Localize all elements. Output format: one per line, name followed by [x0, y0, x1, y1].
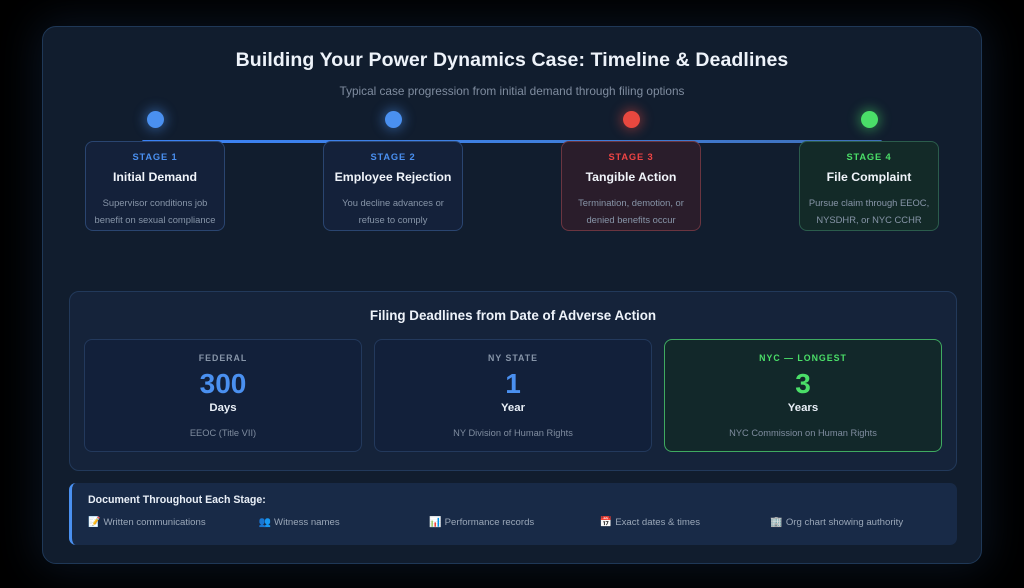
bar-chart-icon: 📊: [429, 517, 441, 528]
deadline-unit: Years: [665, 402, 941, 414]
deadlines-section: Filing Deadlines from Date of Adverse Ac…: [69, 291, 957, 471]
header: Building Your Power Dynamics Case: Timel…: [43, 27, 981, 98]
doc-item-label: Exact dates & times: [615, 517, 700, 528]
stage-dot-icon: [623, 111, 640, 128]
stage-number: STAGE 3: [570, 152, 692, 162]
stage-number: STAGE 4: [808, 152, 930, 162]
stage-card[interactable]: STAGE 3 Tangible Action Termination, dem…: [561, 141, 701, 231]
stage-name: Initial Demand: [94, 170, 216, 184]
deadline-source: NYC Commission on Human Rights: [665, 428, 941, 438]
deadline-number: 300: [85, 367, 361, 401]
doc-item-org-chart: 🏢Org chart showing authority: [770, 517, 941, 528]
doc-item-performance-records: 📊Performance records: [429, 517, 600, 528]
documentation-title: Document Throughout Each Stage:: [88, 494, 941, 506]
page-subtitle: Typical case progression from initial de…: [43, 84, 981, 98]
deadline-unit: Days: [85, 402, 361, 414]
deadline-source: NY Division of Human Rights: [375, 428, 651, 438]
doc-item-written-communications: 📝Written communications: [88, 517, 259, 528]
stage-desc-line: Pursue claim through EEOC,: [808, 194, 930, 211]
stage-card[interactable]: STAGE 4 File Complaint Pursue claim thro…: [799, 141, 939, 231]
stage-dot-icon: [147, 111, 164, 128]
deadline-card-ny-state[interactable]: NY STATE 1 Year NY Division of Human Rig…: [374, 339, 652, 452]
stage-desc-line: benefit on sexual compliance: [94, 211, 216, 228]
deadline-label: NY STATE: [375, 353, 651, 363]
deadlines-title: Filing Deadlines from Date of Adverse Ac…: [70, 308, 956, 323]
stage-name: Tangible Action: [570, 170, 692, 184]
doc-item-label: Witness names: [274, 517, 340, 528]
timeline-stage-4[interactable]: STAGE 4 File Complaint Pursue claim thro…: [799, 111, 939, 231]
timeline-section: STAGE 1 Initial Demand Supervisor condit…: [43, 111, 981, 257]
stage-desc-line: NYSDHR, or NYC CCHR: [808, 211, 930, 228]
stage-description: Pursue claim through EEOC, NYSDHR, or NY…: [808, 194, 930, 229]
deadline-unit: Year: [375, 402, 651, 414]
documentation-items: 📝Written communications 👥Witness names 📊…: [88, 517, 941, 528]
deadline-label: NYC — LONGEST: [665, 353, 941, 363]
deadline-number: 3: [665, 367, 941, 401]
stage-desc-line: Supervisor conditions job: [94, 194, 216, 211]
doc-item-exact-dates: 📅Exact dates & times: [600, 517, 771, 528]
deadline-number: 1: [375, 367, 651, 401]
doc-item-label: Org chart showing authority: [786, 517, 903, 528]
doc-item-witness-names: 👥Witness names: [259, 517, 430, 528]
calendar-icon: 📅: [600, 517, 612, 528]
deadline-label: FEDERAL: [85, 353, 361, 363]
stage-name: Employee Rejection: [332, 170, 454, 184]
stage-description: You decline advances or refuse to comply: [332, 194, 454, 229]
deadline-source: EEOC (Title VII): [85, 428, 361, 438]
stage-number: STAGE 2: [332, 152, 454, 162]
stage-number: STAGE 1: [94, 152, 216, 162]
deadline-card-nyc[interactable]: NYC — LONGEST 3 Years NYC Commission on …: [664, 339, 942, 452]
deadline-card-federal[interactable]: FEDERAL 300 Days EEOC (Title VII): [84, 339, 362, 452]
main-panel: Building Your Power Dynamics Case: Timel…: [42, 26, 982, 564]
deadline-cards: FEDERAL 300 Days EEOC (Title VII) NY STA…: [70, 323, 956, 452]
doc-item-label: Performance records: [445, 517, 535, 528]
timeline-stage-1[interactable]: STAGE 1 Initial Demand Supervisor condit…: [85, 111, 225, 231]
people-icon: 👥: [259, 517, 271, 528]
stage-card[interactable]: STAGE 1 Initial Demand Supervisor condit…: [85, 141, 225, 231]
doc-item-label: Written communications: [103, 517, 205, 528]
timeline-stage-2[interactable]: STAGE 2 Employee Rejection You decline a…: [323, 111, 463, 231]
stage-desc-line: refuse to comply: [332, 211, 454, 228]
documentation-bar: Document Throughout Each Stage: 📝Written…: [69, 483, 957, 545]
page-title: Building Your Power Dynamics Case: Timel…: [43, 49, 981, 72]
stage-name: File Complaint: [808, 170, 930, 184]
stage-desc-line: denied benefits occur: [570, 211, 692, 228]
timeline-stage-3[interactable]: STAGE 3 Tangible Action Termination, dem…: [561, 111, 701, 231]
memo-icon: 📝: [88, 517, 100, 528]
stage-card[interactable]: STAGE 2 Employee Rejection You decline a…: [323, 141, 463, 231]
office-building-icon: 🏢: [770, 517, 782, 528]
stage-dot-icon: [861, 111, 878, 128]
stage-description: Supervisor conditions job benefit on sex…: [94, 194, 216, 229]
stage-desc-line: You decline advances or: [332, 194, 454, 211]
stage-desc-line: Termination, demotion, or: [570, 194, 692, 211]
stage-dot-icon: [385, 111, 402, 128]
stage-description: Termination, demotion, or denied benefit…: [570, 194, 692, 229]
timeline-stages: STAGE 1 Initial Demand Supervisor condit…: [85, 111, 939, 231]
